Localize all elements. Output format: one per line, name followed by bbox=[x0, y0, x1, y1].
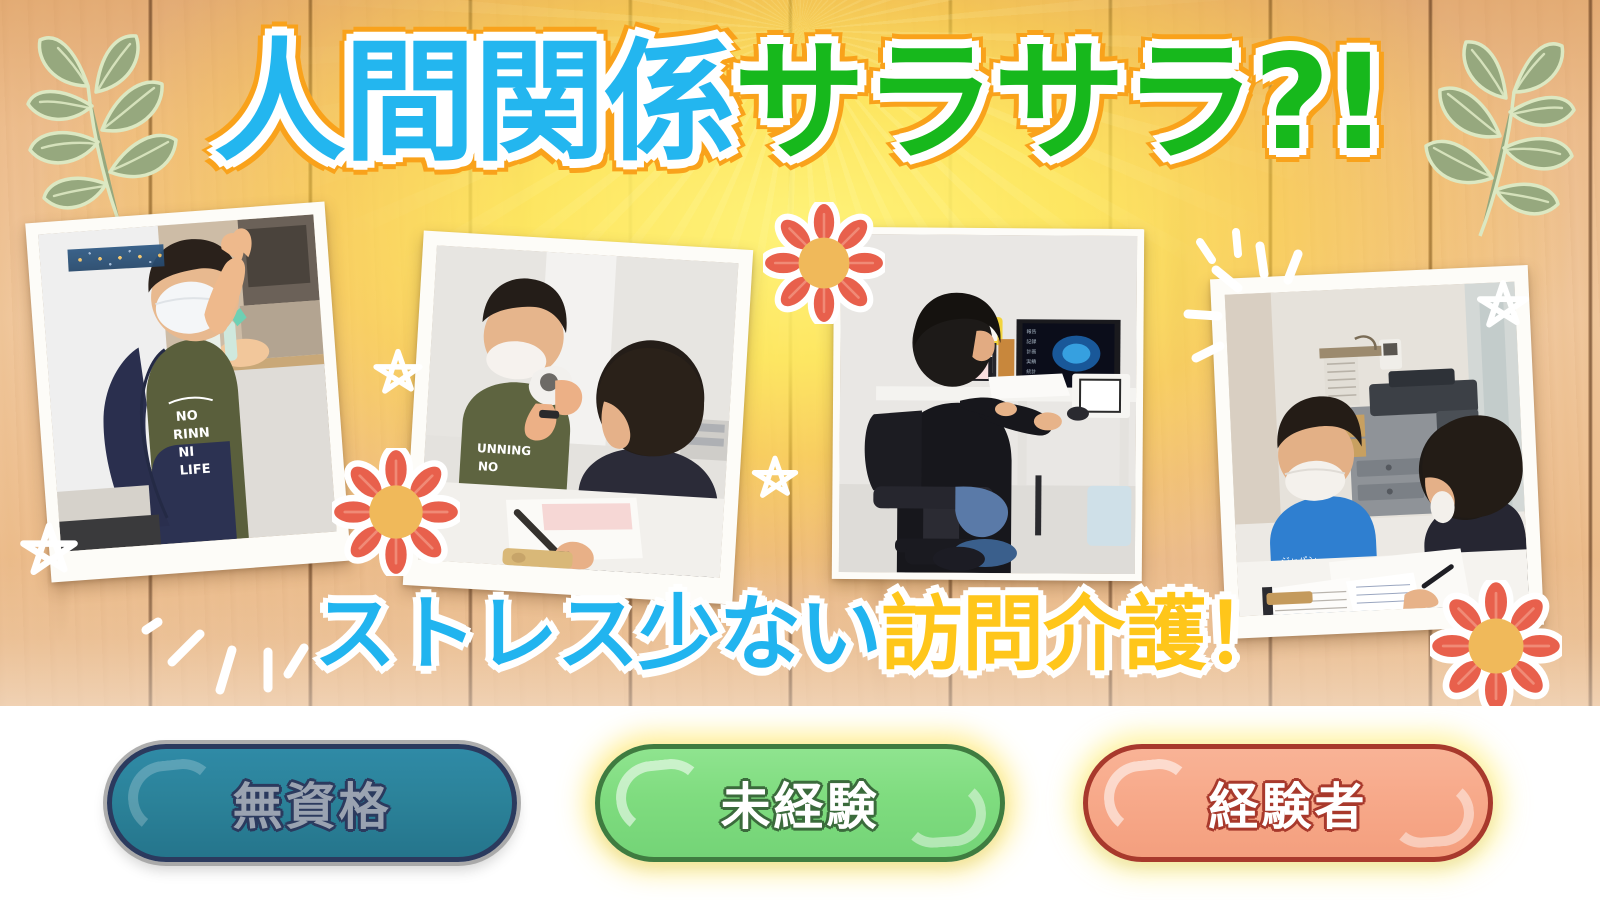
headline-part-green: サラサラ?! bbox=[734, 34, 1387, 174]
headline-part-blue: 人間関係 bbox=[214, 34, 734, 174]
photo-staff-waving: NO RINN NI LIFE bbox=[25, 201, 351, 582]
tag-button-row: 無資格 未経験 経験者 bbox=[0, 706, 1600, 900]
photo-staff-desk-work-image: 報告記録 計画実績 統計 bbox=[839, 234, 1137, 574]
gloss-highlight-top-left bbox=[612, 755, 711, 838]
gloss-highlight-bottom-right bbox=[1386, 778, 1476, 850]
page-subtitle: ストレス少ない訪問介護！ bbox=[0, 594, 1600, 676]
photo-staff-meeting-image: UNNING NO bbox=[418, 245, 738, 577]
gloss-highlight-top-left bbox=[1100, 755, 1199, 838]
svg-text:実績: 実績 bbox=[1026, 358, 1036, 365]
tag-experienced-button[interactable]: 経験者 bbox=[1083, 744, 1493, 862]
subline-part-gold: 訪問介護！ bbox=[881, 594, 1286, 676]
tag-inexperienced-label: 未経験 bbox=[721, 767, 880, 839]
photo-staff-paperwork: ジャパン bbox=[1210, 265, 1544, 639]
svg-text:LIFE: LIFE bbox=[179, 462, 211, 479]
svg-text:記録: 記録 bbox=[1026, 338, 1036, 345]
tag-unqualified-label: 無資格 bbox=[233, 767, 392, 839]
poster-canvas: NO RINN NI LIFE bbox=[0, 0, 1600, 900]
svg-text:NO: NO bbox=[478, 459, 499, 474]
page-title: 人間関係サラサラ?! bbox=[0, 34, 1600, 174]
gloss-highlight-top-left bbox=[124, 755, 223, 838]
photo-staff-paperwork-image: ジャパン bbox=[1225, 282, 1529, 617]
svg-text:RINN: RINN bbox=[173, 426, 211, 444]
tag-unqualified-button[interactable]: 無資格 bbox=[107, 744, 517, 862]
tag-inexperienced-button[interactable]: 未経験 bbox=[595, 744, 1005, 862]
gloss-highlight-bottom-right bbox=[898, 778, 988, 850]
photo-staff-desk-work: 報告記録 計画実績 統計 bbox=[832, 227, 1144, 581]
svg-text:統計: 統計 bbox=[1026, 368, 1036, 375]
svg-text:NO: NO bbox=[175, 408, 198, 425]
photo-staff-meeting: UNNING NO bbox=[403, 231, 753, 605]
svg-text:NI: NI bbox=[178, 445, 195, 461]
svg-text:計画: 計画 bbox=[1026, 348, 1036, 355]
tag-experienced-label: 経験者 bbox=[1209, 767, 1368, 839]
subline-part-blue: ストレス少ない bbox=[314, 594, 881, 676]
svg-text:報告: 報告 bbox=[1026, 328, 1036, 335]
